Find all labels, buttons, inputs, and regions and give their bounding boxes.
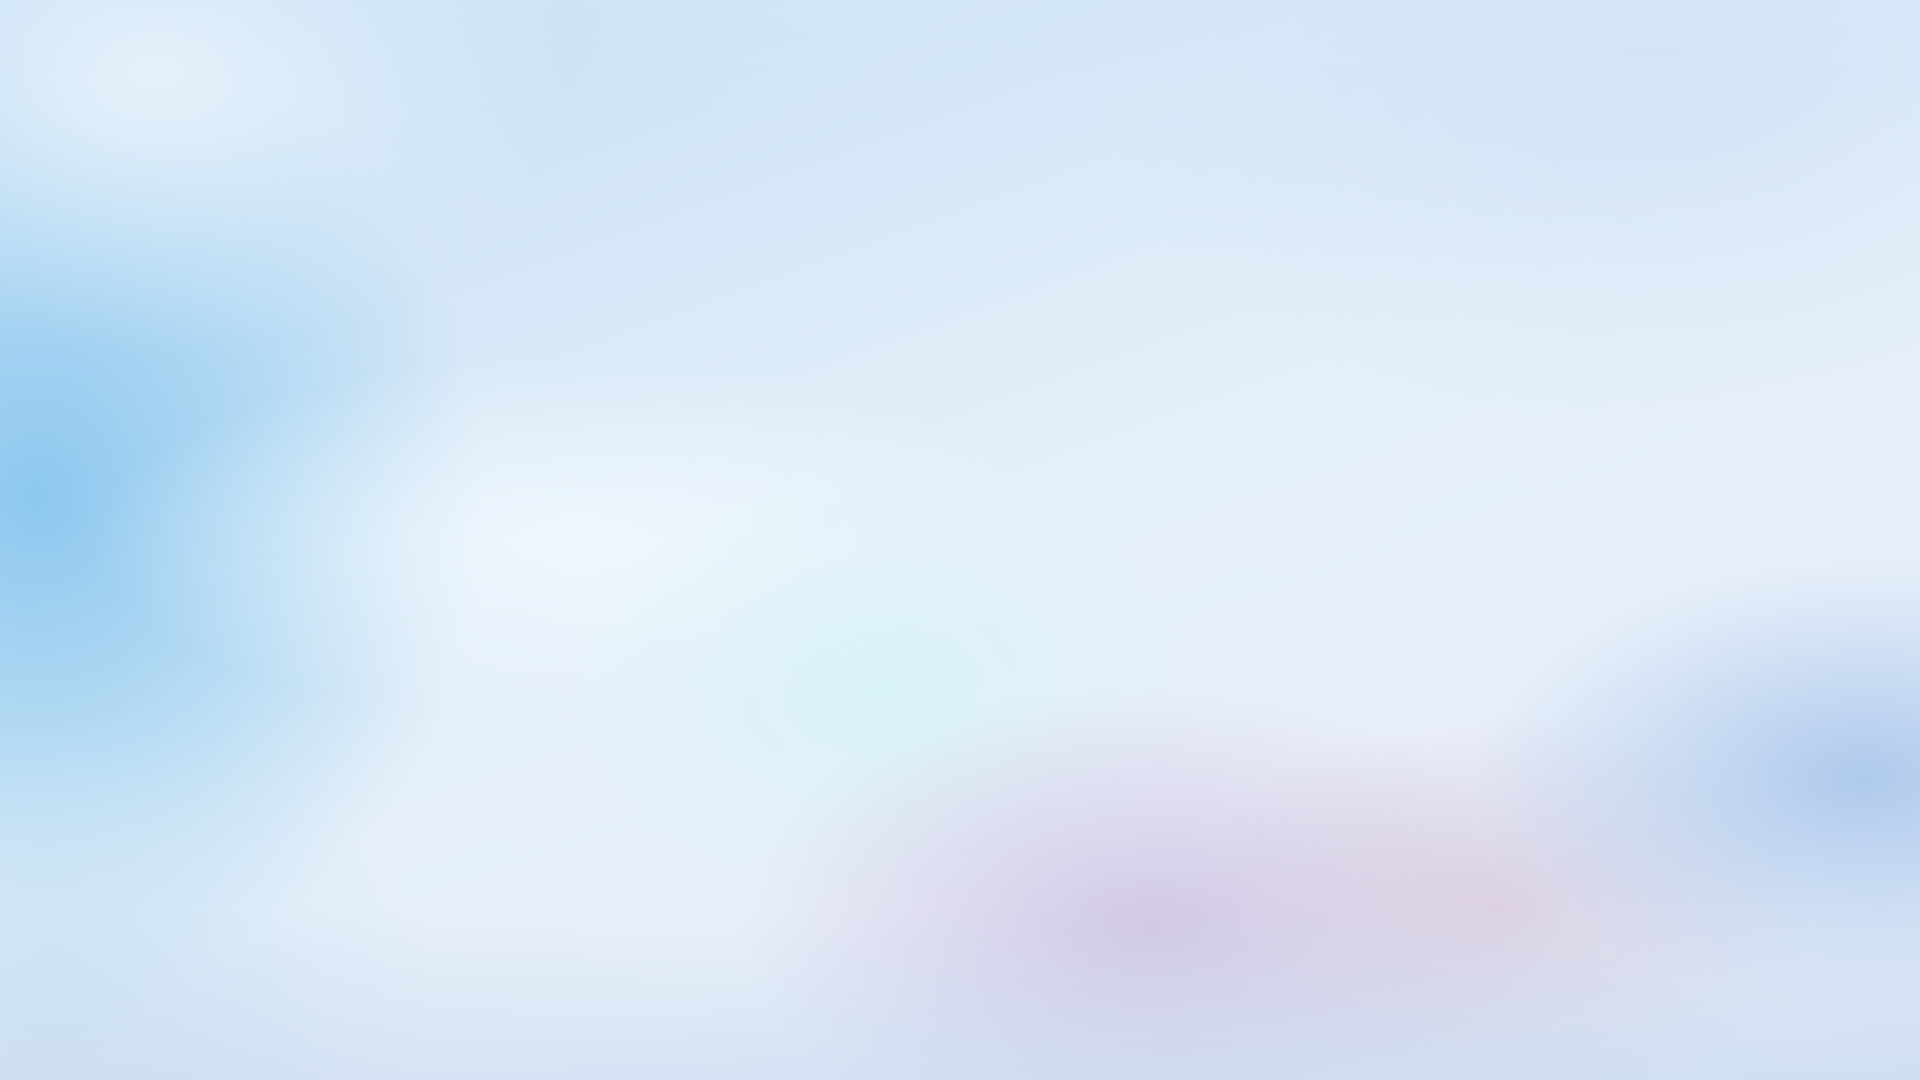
process-diagram [0,0,1920,1080]
stage-chevron-banner [88,368,1848,460]
bottom-detail-columns [0,506,1920,856]
top-captions-row [0,232,1920,342]
